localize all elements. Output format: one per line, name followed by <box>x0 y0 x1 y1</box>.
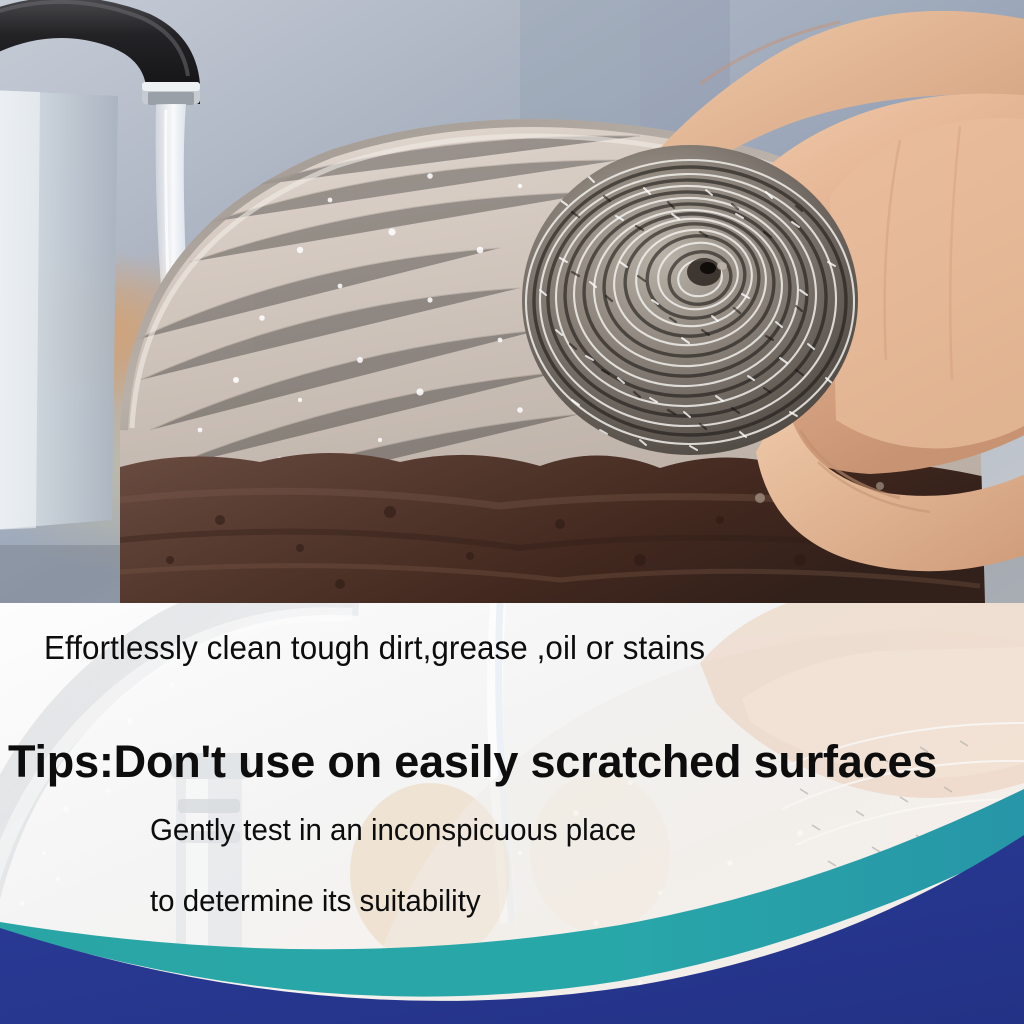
hero-photo <box>0 0 1024 603</box>
tips-text: Tips:Don't use on easily scratched surfa… <box>8 736 937 788</box>
headline-text: Effortlessly clean tough dirt,grease ,oi… <box>44 629 705 667</box>
steel-wool-scrubber <box>522 145 858 455</box>
infographic-root: Effortlessly clean tough dirt,grease ,oi… <box>0 0 1024 1024</box>
subline-1-text: Gently test in an inconspicuous place <box>150 812 636 848</box>
hero-photo-illustration <box>0 0 1024 603</box>
subline-2-text: to determine its suitability <box>150 883 481 919</box>
